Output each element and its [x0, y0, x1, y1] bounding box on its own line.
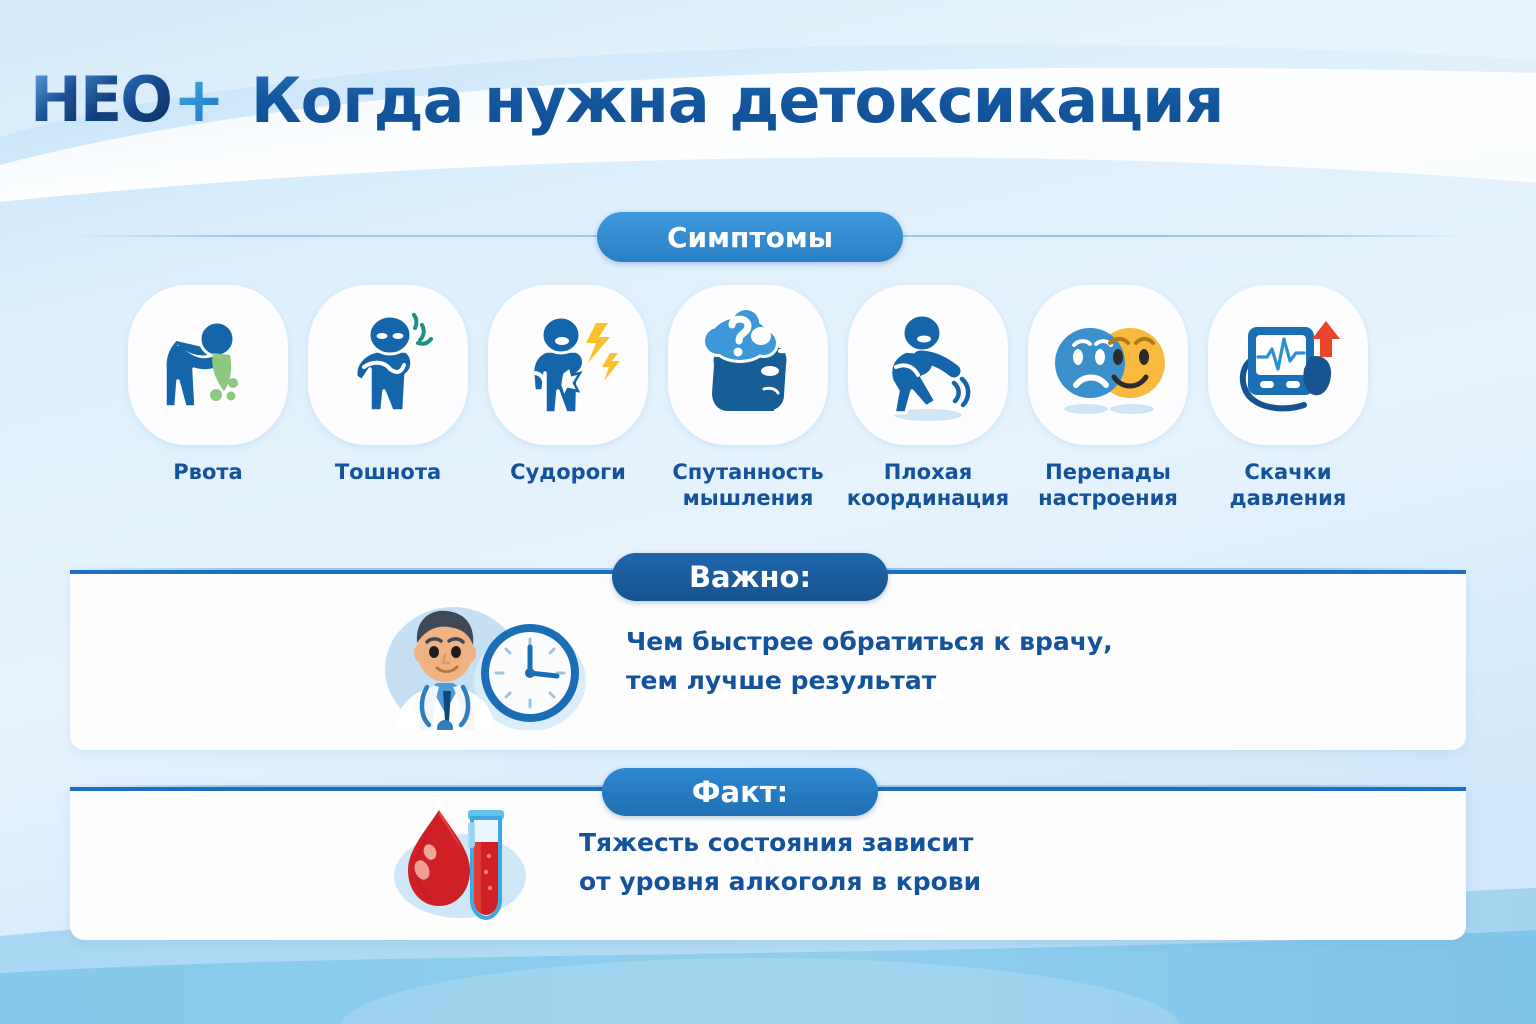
- poor-coordination-icon: [858, 295, 998, 435]
- logo-letter-h: H: [30, 69, 80, 131]
- symptom-label: Скачки давления: [1230, 459, 1347, 512]
- confusion-icon: [678, 295, 818, 435]
- important-content: Чем быстрее обратиться к врачу, тем лучш…: [375, 592, 1375, 732]
- symptom-item-vomiting[interactable]: Рвота: [128, 285, 288, 485]
- brand-logo[interactable]: H E O +: [30, 69, 223, 131]
- important-text-line2: тем лучше результат: [626, 662, 1113, 701]
- symptom-item-cramps[interactable]: Судороги: [488, 285, 648, 485]
- blood-pressure-icon: [1218, 295, 1358, 435]
- symptoms-row: Рвота Тошнота: [120, 285, 1420, 535]
- fact-content: Тяжесть состояния зависит от уровня алко…: [382, 800, 1382, 925]
- page-header: H E O + Когда нужна детоксикация: [0, 0, 1536, 200]
- symptom-card: [1208, 285, 1368, 445]
- symptom-label: Спутанность мышления: [672, 459, 823, 512]
- symptom-label: Рвота: [173, 459, 242, 485]
- symptom-item-poor-coordination[interactable]: Плохая координация: [848, 285, 1008, 512]
- symptom-label: Перепады настроения: [1038, 459, 1178, 512]
- nausea-icon: [318, 295, 458, 435]
- symptom-item-mood-swings[interactable]: Перепады настроения: [1028, 285, 1188, 512]
- symptom-card: [488, 285, 648, 445]
- important-text-line1: Чем быстрее обратиться к врачу,: [626, 623, 1113, 662]
- mood-swings-icon: [1038, 295, 1178, 435]
- symptom-label: Плохая координация: [847, 459, 1009, 512]
- badge-symptoms: Симптомы: [597, 212, 903, 262]
- fact-text-line2: от уровня алкоголя в крови: [579, 863, 981, 902]
- logo-plus-icon: +: [173, 69, 223, 131]
- page-title: Когда нужна детоксикация: [251, 64, 1223, 137]
- symptom-card: [668, 285, 828, 445]
- fact-text-line1: Тяжесть состояния зависит: [579, 824, 981, 863]
- blood-drop-test-tube-icon: [382, 800, 547, 925]
- logo-letter-e: E: [80, 69, 120, 131]
- symptom-item-confusion[interactable]: Спутанность мышления: [668, 285, 828, 512]
- cramps-icon: [498, 295, 638, 435]
- symptom-item-nausea[interactable]: Тошнота: [308, 285, 468, 485]
- symptom-item-blood-pressure[interactable]: Скачки давления: [1208, 285, 1368, 512]
- symptom-label: Судороги: [510, 459, 626, 485]
- symptom-card: [128, 285, 288, 445]
- symptom-card: [308, 285, 468, 445]
- vomiting-icon: [138, 295, 278, 435]
- logo-letter-o: O: [120, 69, 171, 131]
- symptom-label: Тошнота: [335, 459, 441, 485]
- symptom-card: [1028, 285, 1188, 445]
- symptom-card: [848, 285, 1008, 445]
- doctor-with-clock-icon: [375, 595, 590, 730]
